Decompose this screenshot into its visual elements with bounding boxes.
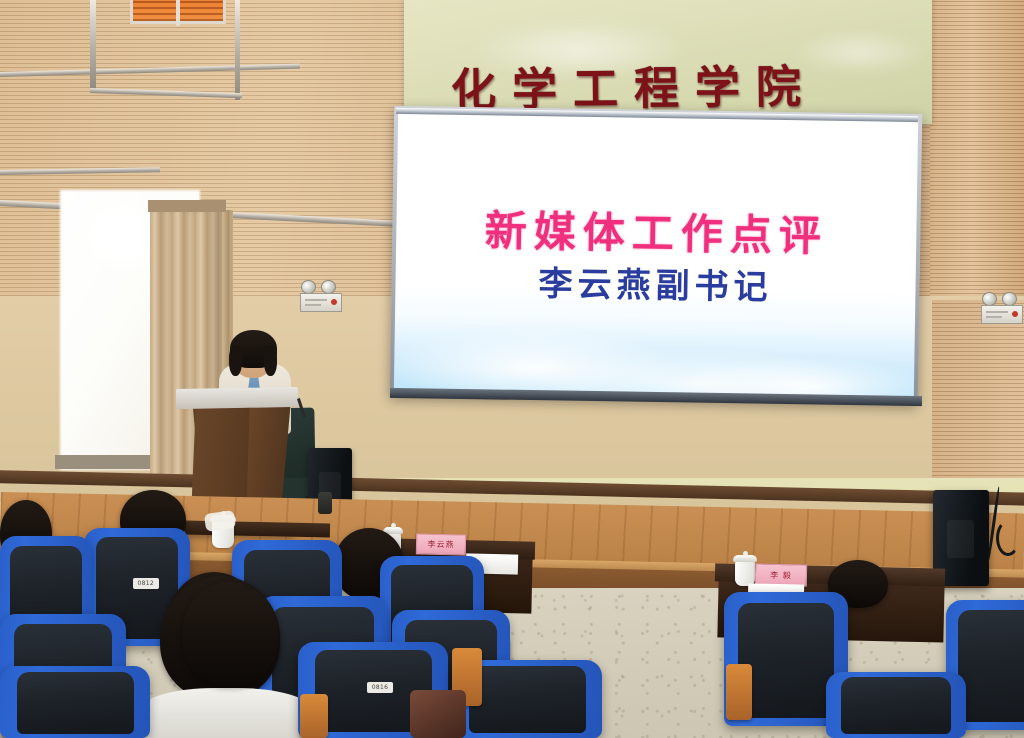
seat-cushion [469,666,586,733]
window-mullion [176,0,180,26]
emergency-light-icon [980,292,1024,326]
stage-bottle [318,492,332,514]
teacup [735,560,755,586]
presenter-hair-side [264,346,277,376]
attendee-head [182,582,278,686]
wall-trim-strip [90,0,96,92]
seat-cushion [841,677,950,734]
indicator-dot-icon [331,299,337,305]
speaker-cable-loop [996,520,1020,556]
seat-armrest [300,694,328,738]
podium-top-surface [176,387,298,409]
slide-surface: 新媒体工作点评 李云燕副书记 [394,112,918,398]
auditorium-photo: 化学工程学院 新媒体工作点评 李云燕副书记 [0,0,1024,738]
slide-subtitle-text: 李云燕副书记 [395,254,916,311]
auditorium-seat[interactable] [826,672,966,738]
label-line [986,316,1002,318]
projection-screen: 新媒体工作点评 李云燕副书记 [390,106,922,404]
label-line [305,304,321,306]
label-line [305,299,327,301]
seat-cushion [958,610,1024,722]
wall-trim-strip [235,0,240,100]
emergency-lamp-icon [301,280,316,294]
presenter-hair-side [229,346,242,376]
emergency-lamp-icon [982,292,997,306]
attendee-shoulders [140,688,312,738]
speaker-grill [947,520,974,558]
emergency-lamp-icon [1002,292,1017,306]
seat-number-tag: 0816 [367,682,393,693]
teacup-knob [743,551,748,556]
right-wall-slats [932,300,1024,500]
teacup-lid [733,555,757,562]
attendee-bag [410,690,466,738]
label-line [986,311,1008,313]
emergency-light-icon [299,280,345,314]
seat-cushion [17,672,134,734]
seat-armrest [726,664,752,720]
name-placard-left: 李云燕 [416,533,466,555]
emergency-light-body [300,293,342,312]
auditorium-seat[interactable] [0,666,150,738]
emergency-light-body [981,305,1023,324]
emergency-lamp-icon [321,280,336,294]
indicator-dot-icon [1012,311,1018,317]
seat-cushion [738,603,835,718]
seat-number-tag: 0812 [133,578,159,589]
curtain-rail [148,200,226,212]
